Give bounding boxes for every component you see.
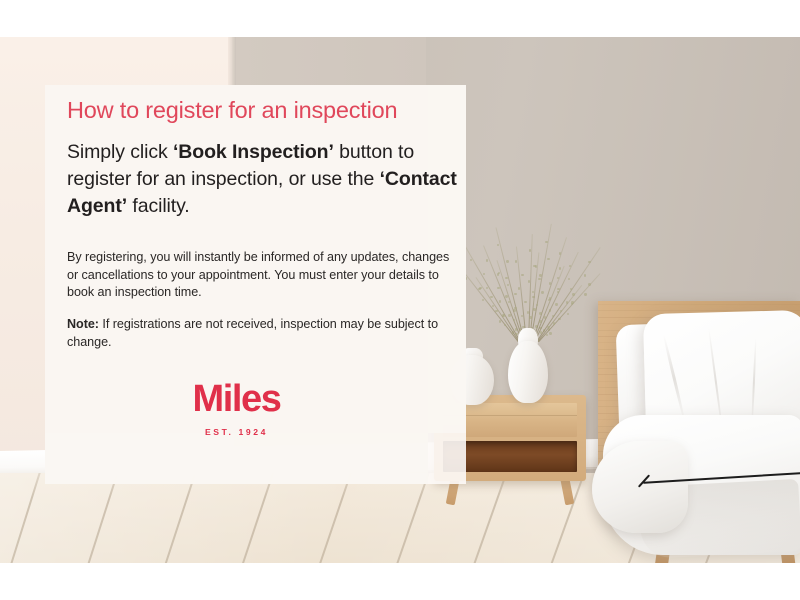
branch-bud (539, 274, 541, 276)
info-panel: How to register for an inspection Simply… (45, 85, 466, 484)
note-body: If registrations are not received, inspe… (67, 317, 438, 349)
branch-twig (536, 247, 601, 342)
branch-bud (559, 267, 561, 269)
branch-bud (490, 296, 492, 298)
room-photo: How to register for an inspection Simply… (0, 37, 800, 563)
branch-bud (521, 315, 523, 317)
branch-bud (559, 252, 561, 254)
branch-bud (529, 249, 531, 251)
branch-bud (497, 287, 499, 289)
branch-bud (515, 333, 517, 335)
branch-bud (557, 288, 559, 290)
branch-bud (528, 280, 530, 282)
branch-bud (555, 303, 557, 305)
branch-bud (545, 241, 547, 243)
logo-wordmark: Miles (45, 380, 428, 418)
branch-bud (505, 277, 507, 279)
page-title: How to register for an inspection (67, 97, 397, 124)
branch-bud (505, 295, 507, 297)
note-paragraph: Note: If registrations are not received,… (67, 316, 452, 351)
lead-paragraph: Simply click ‘Book Inspection’ button to… (67, 139, 462, 220)
vase-tall (508, 341, 548, 403)
branch-bud (527, 311, 529, 313)
branch-bud (514, 307, 516, 309)
duvet-fold (592, 441, 688, 533)
branch-bud (549, 309, 551, 311)
emphasis-book-inspection: ‘Book Inspection’ (173, 141, 334, 163)
branch-bud (572, 293, 574, 295)
branch-bud (506, 260, 508, 262)
branch-bud (539, 312, 541, 314)
branch-bud (483, 273, 485, 275)
branch-bud (588, 283, 590, 285)
branch-bud (503, 314, 505, 316)
brand-logo: Miles EST. 1924 (45, 380, 428, 437)
branch-bud (518, 287, 520, 289)
branch-bud (529, 316, 531, 318)
screenshot-canvas: How to register for an inspection Simply… (0, 0, 800, 600)
note-label: Note: (67, 317, 99, 331)
branch-bud (540, 331, 542, 333)
branch-bud (547, 258, 549, 260)
branch-bud (539, 320, 541, 322)
branch-bud (521, 274, 523, 276)
branch-bud (541, 291, 543, 293)
branch-bud (514, 293, 516, 295)
branch-bud (479, 287, 481, 289)
branch-bud (499, 320, 501, 322)
branch-bud (557, 291, 559, 293)
branch-bud (498, 272, 500, 274)
branch-bud (547, 326, 549, 328)
branch-bud (533, 308, 535, 310)
logo-established: EST. 1924 (45, 427, 428, 437)
branch-bud (584, 293, 586, 295)
branch-bud (546, 334, 548, 336)
branch-bud (470, 259, 472, 261)
branch-bud (515, 260, 517, 262)
branch-bud (549, 332, 551, 334)
lead-text-post: facility. (127, 195, 190, 217)
info-panel-content: How to register for an inspection Simply… (45, 85, 466, 484)
branch-bud (524, 301, 526, 303)
branch-bud (508, 314, 510, 316)
branch-bud (535, 265, 537, 267)
registration-info-paragraph: By registering, you will instantly be in… (67, 249, 452, 302)
branch-bud (568, 278, 570, 280)
branch-bud (486, 287, 488, 289)
branch-bud (536, 304, 538, 306)
branch-bud (482, 299, 484, 301)
branch-bud (558, 318, 560, 320)
branch-bud (499, 300, 501, 302)
branch-bud (584, 274, 586, 276)
branch-bud (567, 313, 569, 315)
lead-text-pre: Simply click (67, 141, 173, 163)
branch-bud (549, 282, 551, 284)
headboard-grain-line (598, 304, 800, 305)
branch-bud (571, 301, 573, 303)
pillow-crease (662, 334, 686, 422)
branch-bud (507, 284, 509, 286)
